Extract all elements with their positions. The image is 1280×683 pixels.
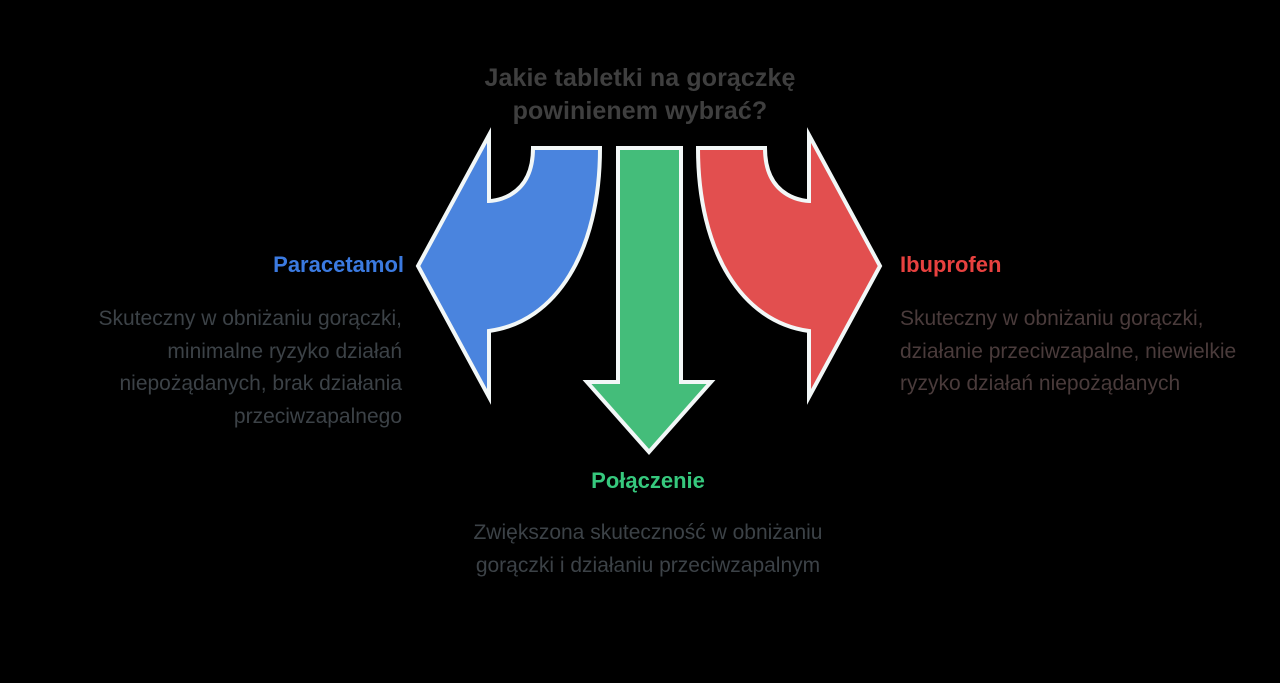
page-title: Jakie tabletki na gorączkę powinienem wy…: [390, 62, 890, 128]
branch-label-ibuprofen: Ibuprofen: [900, 253, 1260, 277]
arrow-down-icon[interactable]: [587, 148, 711, 452]
branch-description-ibuprofen: Skuteczny w obniżaniu gorączki, działani…: [900, 303, 1240, 401]
branch-label-paracetamol: Paracetamol: [0, 253, 404, 277]
branch-description-polaczenie: Zwiększona skuteczność w obniżaniu gorąc…: [448, 517, 848, 582]
branch-description-paracetamol: Skuteczny w obniżaniu gorączki, minimaln…: [30, 303, 402, 433]
diagram-canvas: Jakie tabletki na gorączkę powinienem wy…: [0, 0, 1280, 683]
curved-arrow-left-icon[interactable]: [418, 135, 600, 397]
branch-label-polaczenie: Połączenie: [448, 469, 848, 493]
curved-arrow-right-icon[interactable]: [698, 135, 880, 397]
